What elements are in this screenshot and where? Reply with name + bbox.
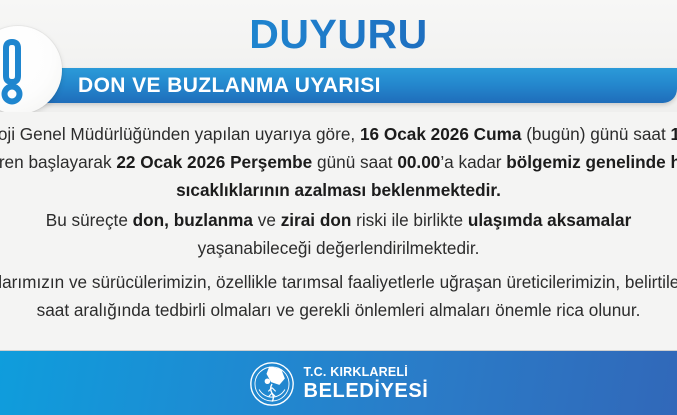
paragraph-3: Vatandaşlarımızın ve sürücülerimizin, öz… — [0, 268, 677, 324]
kirklarelii-municipality-emblem — [249, 361, 295, 407]
warning-badge — [0, 26, 62, 112]
brand-text: T.C. KIRKLARELİ BELEDİYESİ — [304, 366, 429, 402]
announcement-poster: DUYURU DON VE BUZLANMA UYARISI Meteorolo… — [0, 0, 677, 415]
page-title: DUYURU — [0, 8, 677, 60]
brand-line-1: T.C. KIRKLARELİ — [304, 366, 429, 379]
warning-banner-label: DON VE BUZLANMA UYARISI — [78, 68, 381, 103]
brand-line-2: BELEDİYESİ — [304, 381, 429, 401]
warning-banner: DON VE BUZLANMA UYARISI — [36, 68, 677, 103]
poster-header: DUYURU DON VE BUZLANMA UYARISI — [0, 0, 677, 112]
exclamation-mark-icon — [0, 26, 62, 112]
paragraph-2: Bu süreçte don, buzlanma ve zirai don ri… — [0, 206, 677, 262]
poster-body: Meteoroloji Genel Müdürlüğünden yapılan … — [0, 112, 677, 350]
poster-footer: T.C. KIRKLARELİ BELEDİYESİ — [0, 350, 677, 415]
paragraph-1: Meteoroloji Genel Müdürlüğünden yapılan … — [0, 120, 677, 204]
